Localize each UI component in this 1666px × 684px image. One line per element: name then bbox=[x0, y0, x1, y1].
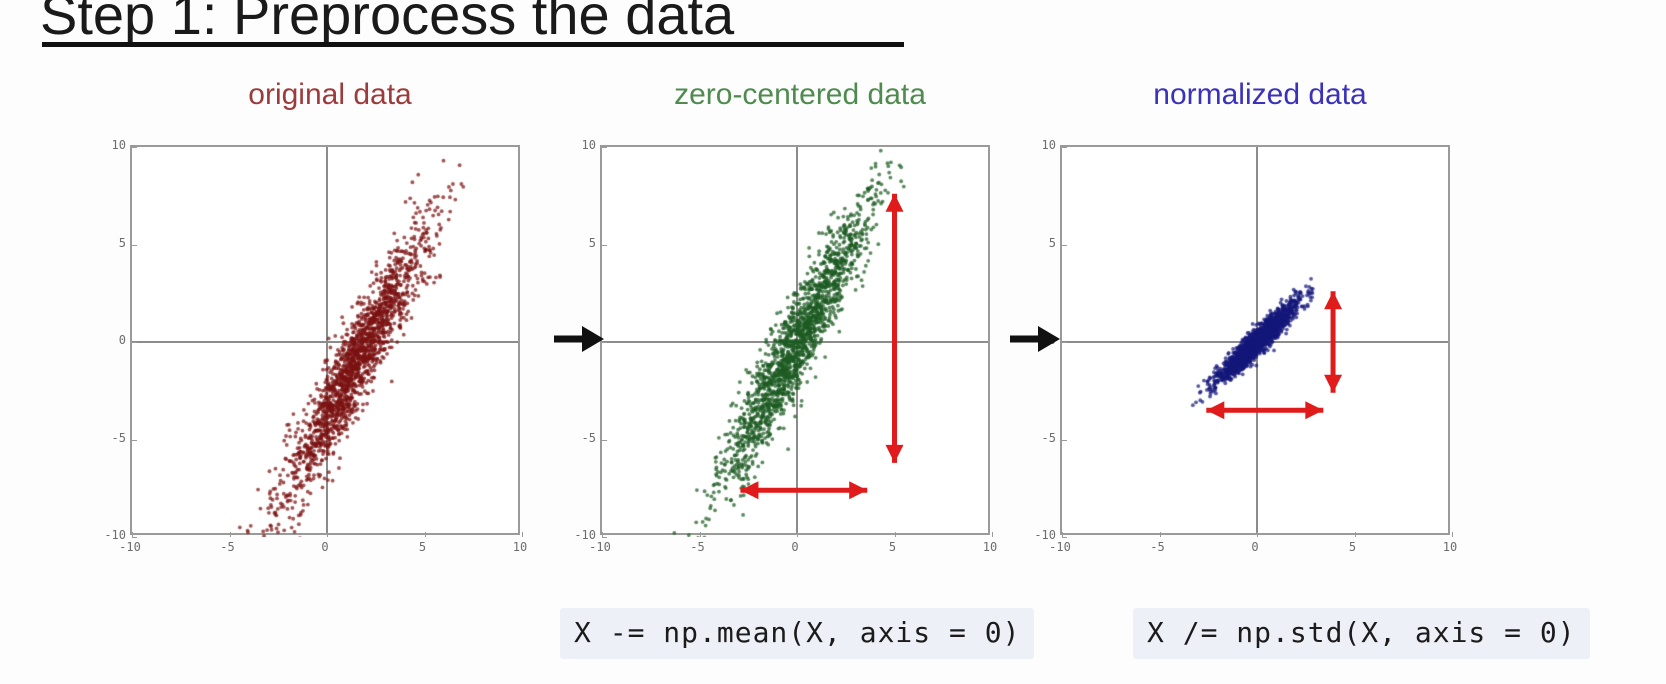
y-tick-mark bbox=[132, 342, 137, 343]
panel-title-zero-centered-data: zero-centered data bbox=[570, 78, 1030, 112]
y-tick-label: 5 bbox=[100, 236, 126, 250]
scatter-points bbox=[1062, 147, 1452, 537]
x-tick-label: -5 bbox=[690, 540, 704, 554]
y-tick-mark bbox=[602, 440, 607, 441]
x-tick-mark bbox=[700, 532, 701, 537]
y-tick-mark bbox=[132, 245, 137, 246]
x-tick-mark bbox=[895, 532, 896, 537]
zero-center-code-box: X -= np.mean(X, axis = 0) bbox=[560, 608, 1034, 659]
y-tick-mark bbox=[1062, 537, 1067, 538]
y-tick-label: 5 bbox=[1030, 236, 1056, 250]
x-tick-mark bbox=[797, 532, 798, 537]
arrow-right-icon bbox=[552, 322, 608, 361]
y-tick-label: -5 bbox=[100, 431, 126, 445]
y-tick-mark bbox=[132, 147, 137, 148]
scatter-points bbox=[602, 147, 992, 537]
y-tick-label: 10 bbox=[1030, 138, 1056, 152]
page-title: Step 1: Preprocess the data bbox=[40, 0, 734, 47]
x-tick-label: -10 bbox=[1049, 540, 1071, 554]
y-tick-mark bbox=[132, 440, 137, 441]
y-tick-label: -10 bbox=[570, 528, 596, 542]
x-tick-label: -5 bbox=[220, 540, 234, 554]
x-tick-mark bbox=[1257, 532, 1258, 537]
x-tick-mark bbox=[1355, 532, 1356, 537]
y-tick-mark bbox=[1062, 245, 1067, 246]
panel-title-normalized-data: normalized data bbox=[1030, 78, 1490, 112]
y-tick-label: 5 bbox=[570, 236, 596, 250]
y-tick-label: -10 bbox=[100, 528, 126, 542]
y-tick-mark bbox=[132, 537, 137, 538]
panel-title-original-data: original data bbox=[100, 78, 560, 112]
y-tick-mark bbox=[602, 147, 607, 148]
arrow-right-icon bbox=[1008, 322, 1064, 361]
normalize-code-box: X /= np.std(X, axis = 0) bbox=[1133, 608, 1590, 659]
y-tick-label: 10 bbox=[570, 138, 596, 152]
x-tick-label: 0 bbox=[791, 540, 798, 554]
x-tick-label: 5 bbox=[419, 540, 426, 554]
x-tick-label: 10 bbox=[1443, 540, 1457, 554]
plot-frame bbox=[600, 145, 990, 535]
y-tick-label: 10 bbox=[100, 138, 126, 152]
y-tick-label: 0 bbox=[100, 333, 126, 347]
x-tick-mark bbox=[1160, 532, 1161, 537]
x-tick-label: 0 bbox=[321, 540, 328, 554]
scatter-points bbox=[132, 147, 522, 537]
x-tick-mark bbox=[992, 532, 993, 537]
x-tick-mark bbox=[1452, 532, 1453, 537]
x-tick-label: 10 bbox=[513, 540, 527, 554]
plot-frame bbox=[1060, 145, 1450, 535]
x-tick-label: 0 bbox=[1251, 540, 1258, 554]
x-tick-label: 10 bbox=[983, 540, 997, 554]
y-tick-mark bbox=[602, 245, 607, 246]
x-tick-label: -10 bbox=[119, 540, 141, 554]
y-tick-label: -5 bbox=[570, 431, 596, 445]
x-tick-mark bbox=[425, 532, 426, 537]
y-tick-label: -10 bbox=[1030, 528, 1056, 542]
x-tick-mark bbox=[522, 532, 523, 537]
y-tick-mark bbox=[602, 537, 607, 538]
x-tick-mark bbox=[230, 532, 231, 537]
y-tick-label: -5 bbox=[1030, 431, 1056, 445]
x-tick-label: -5 bbox=[1150, 540, 1164, 554]
y-tick-mark bbox=[1062, 147, 1067, 148]
y-tick-mark bbox=[1062, 440, 1067, 441]
x-tick-label: 5 bbox=[1349, 540, 1356, 554]
x-tick-mark bbox=[327, 532, 328, 537]
x-tick-label: 5 bbox=[889, 540, 896, 554]
title-underline bbox=[42, 42, 904, 47]
x-tick-label: -10 bbox=[589, 540, 611, 554]
plot-frame bbox=[130, 145, 520, 535]
